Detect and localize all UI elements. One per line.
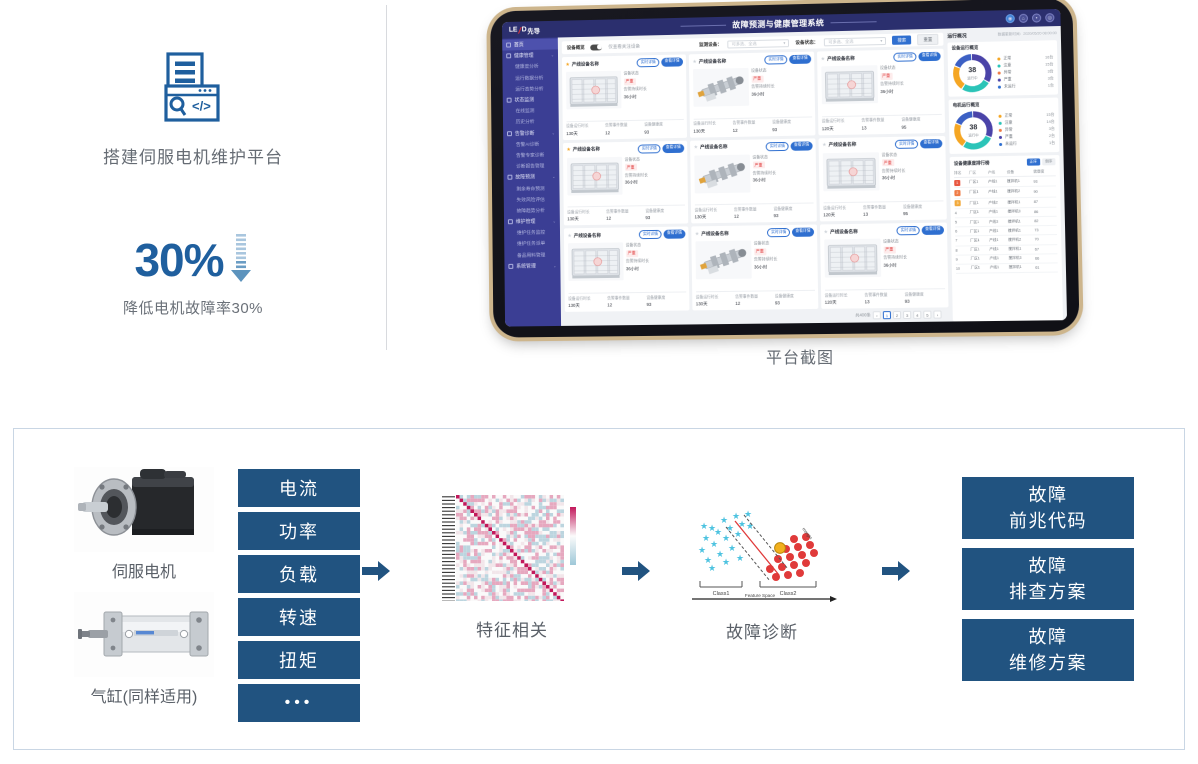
motor-overview-panel: 电机运行概览 38 运行中 正常 15台 (949, 98, 1060, 154)
legend-row: 注意 15台 (997, 62, 1053, 68)
card-uptime-label: 告警持续时长 (626, 258, 649, 264)
card-metric-value: 130天 (566, 130, 605, 137)
factory-cell: 厂区1 (970, 245, 989, 255)
sidebar-item-15[interactable]: 故障趋势分析 (504, 204, 560, 216)
realtime-detail-button[interactable]: 实时详情 (638, 144, 661, 153)
svg-text:Class1: Class1 (713, 591, 730, 597)
realtime-detail-button[interactable]: 实时详情 (893, 52, 916, 62)
motor-overview-title: 电机运行概览 (953, 101, 1055, 109)
outcome-box-2: 故障 维修方案 (962, 619, 1134, 681)
legend-count: 3台 (1048, 76, 1054, 81)
health-ranking-panel: 设备健康度排行榜 正序倒序 排名厂区产线设备健康度 1 厂区1 产线1 搅拌机1… (950, 155, 1063, 321)
svg-text:★: ★ (738, 519, 746, 529)
status-select[interactable]: 可多选、全选 ▾ (824, 36, 886, 45)
tablet-mockup-area: LE / D 先导 故障预测与健康管理系统 ◉ ⌂ • ◎ (410, 0, 1190, 380)
legend-label: 注意 (1005, 120, 1013, 125)
running-overview-title: 运行概况 (947, 32, 967, 39)
pagination-total: 共400条 (855, 312, 871, 318)
favorite-star-icon[interactable]: ★ (692, 59, 697, 65)
line-cell: 产线2 (988, 197, 1007, 208)
donut2-label: 运行中 (968, 132, 978, 137)
pneumatic-cylinder-photo (74, 592, 214, 677)
health-cell: 87 (1034, 197, 1057, 208)
realtime-detail-button[interactable]: 实时详情 (764, 55, 787, 64)
device-card[interactable]: ★ 产线设备名称 实时详情 查看详情 设备状态 严重 告警持续时长 36小时 (564, 227, 690, 312)
home-icon[interactable]: ⌂ (1019, 14, 1028, 23)
sidebar-item-label: 维护任务监控 (517, 229, 545, 236)
legend-dot (997, 64, 1000, 67)
legend-dot (999, 128, 1002, 131)
device-card[interactable]: ★ 产线设备名称 实时详情 查看详情 设备状态 严重 (690, 138, 817, 224)
card-metric: 设备运行时长130天 (568, 296, 607, 309)
sidebar-item-label: 失效风险评估 (516, 196, 544, 203)
card-metric: 告警事件数量13 (863, 205, 903, 218)
favorite-star-icon[interactable]: ★ (822, 142, 827, 148)
device-cell: 搅拌机3 (1008, 254, 1035, 264)
legend-label: 严重 (1005, 134, 1013, 139)
device-overview-legend: 正常 16台 注意 15台 异常 3台 严重 3台 未运行 1台 (997, 55, 1054, 89)
health-cell: 73 (1034, 226, 1057, 236)
legend-dot (999, 135, 1002, 138)
realtime-detail-button[interactable]: 实时详情 (895, 139, 919, 148)
card-metric: 告警事件数量12 (734, 207, 774, 220)
ranking-tab[interactable]: 倒序 (1042, 158, 1056, 165)
legend-row: 严重 3台 (998, 76, 1054, 82)
card-status-value: 严重 (754, 248, 766, 255)
card-uptime-value: 36小时 (751, 91, 774, 97)
favorite-star-icon[interactable]: ★ (567, 233, 571, 239)
factory-cell: 厂区1 (971, 264, 990, 274)
svg-text:★: ★ (700, 521, 708, 531)
device-cell: 搅拌机1 (1009, 263, 1036, 273)
health-cell: 93 (1033, 176, 1056, 187)
watch-only-toggle[interactable] (591, 44, 603, 50)
card-metric-value: 93 (775, 300, 815, 306)
sidebar-item-label: 告警诊断 (515, 129, 535, 136)
sidebar-item-label: 运行态势分析 (515, 85, 543, 92)
outcome-box-1: 故障 排查方案 (962, 548, 1134, 610)
rank-cell: 3 (955, 198, 970, 209)
realtime-detail-button[interactable]: 实时详情 (639, 230, 662, 239)
card-metric-value: 120天 (822, 125, 862, 132)
sidebar-item-18[interactable]: 维护任务派单 (504, 238, 560, 250)
sidebar-item-label: 诊断报告管理 (516, 162, 544, 169)
legend-count: 16台 (1045, 55, 1053, 60)
card-uptime-value: 36小时 (626, 266, 649, 272)
sidebar-item-label: 运行数据分析 (515, 74, 543, 81)
device-card[interactable]: ★ 产线设备名称 实时详情 查看详情 设备状态 严重 告警持续时长 36小时 (563, 140, 688, 225)
header-icon-group[interactable]: ◉ ⌂ • ◎ (1006, 13, 1055, 23)
heart-icon (506, 54, 511, 59)
card-metric-value: 120天 (825, 299, 865, 306)
view-detail-button[interactable]: 查看详情 (789, 55, 810, 64)
device-cell: 搅拌机1 (1008, 244, 1035, 254)
card-metric: 设备运行时长120天 (822, 119, 862, 132)
svg-text:★: ★ (702, 533, 710, 543)
sidebar-item-label: 故障趋势分析 (517, 207, 545, 214)
arrow-right-icon-3 (882, 559, 910, 583)
view-detail-button[interactable]: 查看详情 (920, 139, 942, 148)
card-status-label: 设备状态 (880, 65, 904, 72)
arrow-right-icon-2 (622, 559, 650, 583)
card-uptime-label: 告警持续时长 (754, 257, 777, 263)
view-detail-button[interactable]: 查看详情 (663, 143, 684, 152)
line-cell: 产线1 (988, 177, 1007, 188)
card-title: 产线设备名称 (573, 147, 600, 153)
donut2-value: 38 (969, 124, 977, 131)
sidebar-item-label: 系统管理 (516, 262, 536, 269)
device-overview-panel: 设备运行概览 38 运行中 正常 16台 (947, 40, 1058, 97)
card-status-value: 严重 (626, 250, 638, 257)
parameter-list: 电流功率负载转速扭矩••• (238, 469, 360, 727)
pagination-page-5[interactable]: 5 (923, 311, 931, 319)
legend-count: 1台 (1049, 140, 1055, 145)
device-overview-donut: 38 运行中 (952, 53, 993, 94)
card-status-value: 严重 (882, 159, 894, 166)
reset-button[interactable]: 重置 (917, 34, 938, 46)
outcome-line1: 故障 (1029, 553, 1068, 579)
realtime-detail-button[interactable]: 实时详情 (766, 142, 789, 151)
card-status-value: 严重 (880, 72, 892, 79)
card-metric: 告警事件数量13 (864, 292, 904, 305)
svg-text:★: ★ (698, 545, 706, 555)
svg-text:★: ★ (746, 521, 754, 531)
device-select-label: 监测设备： (699, 41, 722, 47)
sidebar-item-label: 状态监测 (514, 96, 534, 103)
chevron-down-icon: ⌄ (553, 263, 556, 268)
device-thumbnail (824, 239, 881, 278)
device-card[interactable]: ★ 产线设备名称 实时详情 查看详情 设备状态 严重 告警持续时长 36小时 (820, 223, 949, 309)
platform-highlight-panel: </> 搭建伺服电机维护平台 30% (0, 0, 386, 380)
code-window-icon: </> (156, 52, 230, 129)
alert-icon (507, 131, 512, 136)
down-arrow-icon (230, 234, 252, 289)
card-metric-value: 130天 (695, 214, 735, 221)
cards-column: 设备概览 仅查看关注设备 监测设备： 可多选、全选 ▾ 设备状态： (558, 29, 953, 326)
device-cell: 搅拌机2 (1008, 235, 1035, 245)
card-metric-value: 93 (644, 129, 683, 135)
card-uptime-label: 告警持续时长 (882, 167, 906, 173)
device-select[interactable]: 可多选、全选 ▾ (728, 39, 790, 48)
stat-caption: 降低电机故障率30% (123, 297, 263, 318)
legend-count: 2台 (1049, 133, 1055, 138)
card-title: 产线设备名称 (829, 142, 857, 149)
favorite-star-icon[interactable]: ★ (821, 56, 826, 62)
legend-row: 未运行 1台 (999, 140, 1055, 146)
card-metric: 设备健康度95 (901, 117, 941, 130)
tech-solution-panel: 伺服电机 (13, 428, 1185, 750)
sidebar-item-14[interactable]: 失效风险评估 (504, 193, 560, 205)
equipment-caption: 伺服电机 (74, 558, 214, 582)
bell-icon[interactable]: • (1032, 13, 1041, 22)
rank-cell: 7 (955, 236, 970, 245)
sidebar-item-19[interactable]: 备品用料管理 (504, 249, 560, 261)
legend-label: 正常 (1005, 113, 1013, 118)
vertical-divider (386, 5, 387, 350)
card-title: 产线设备名称 (700, 144, 727, 150)
sidebar-nav[interactable]: 首页健康管理⌄健康度分析运行数据分析运行态势分析状态监测在线监测历史分析告警诊断… (502, 38, 561, 327)
watch-only-label: 仅查看关注设备 (608, 43, 640, 50)
card-metric-value: 12 (733, 127, 773, 133)
svg-text:Feature Space: Feature Space (745, 593, 776, 598)
card-uptime-value: 36小时 (882, 175, 906, 181)
rank-badge: 3 (955, 200, 961, 206)
main-content: 设备概览 仅查看关注设备 监测设备： 可多选、全选 ▾ 设备状态： (558, 26, 1067, 326)
device-cards-grid: ★ 产线设备名称 实时详情 查看详情 设备状态 严重 告警持续时长 36小时 (562, 49, 949, 312)
line-cell: 产线1 (989, 208, 1008, 218)
card-status-value: 严重 (752, 161, 764, 168)
pagination-page-1[interactable]: 1 (883, 311, 891, 319)
legend-count: 15台 (1045, 62, 1053, 67)
chevron-down-icon: ⌄ (552, 174, 555, 179)
health-cell: 90 (1034, 186, 1057, 197)
legend-row: 未运行 1台 (998, 83, 1054, 89)
device-card[interactable]: ★ 产线设备名称 实时详情 查看详情 设备状态 严重 告警持续时长 36小时 (818, 136, 946, 222)
home-icon (506, 43, 511, 48)
card-uptime-value: 36小时 (753, 177, 776, 183)
card-uptime-label: 告警持续时长 (883, 255, 907, 261)
servo-motor-photo (74, 467, 214, 552)
svg-text:★: ★ (744, 509, 752, 519)
legend-count: 1台 (1048, 83, 1054, 88)
rank-cell: 8 (955, 245, 970, 254)
view-detail-button[interactable]: 查看详情 (662, 57, 683, 66)
legend-count: 3台 (1049, 126, 1055, 131)
device-thumbnail (822, 152, 879, 191)
legend-row: 正常 15台 (998, 112, 1054, 118)
outcome-line2: 维修方案 (1009, 650, 1087, 676)
pagination-page-4[interactable]: 4 (913, 311, 921, 319)
card-status-label: 设备状态 (881, 151, 905, 157)
sidebar-item-label: 告警AI诊断 (516, 140, 539, 147)
card-title: 产线设备名称 (699, 58, 726, 65)
settings-icon (508, 264, 513, 269)
sidebar-item-label: 健康管理 (514, 52, 534, 59)
device-thumbnail (694, 154, 750, 193)
factory-cell: 厂区1 (970, 208, 989, 218)
card-metric: 设备健康度93 (905, 292, 945, 305)
card-metric-value: 130天 (567, 216, 606, 223)
legend-label: 未运行 (1005, 141, 1017, 146)
card-title: 产线设备名称 (572, 61, 599, 68)
rank-cell: 10 (956, 264, 971, 273)
svg-text:★: ★ (728, 543, 736, 553)
outcome-line1: 故障 (1029, 624, 1068, 650)
legend-row: 注意 14台 (999, 119, 1055, 125)
device-thumbnail (693, 68, 749, 107)
card-uptime-value: 36小时 (883, 262, 907, 268)
svg-text:★: ★ (722, 533, 730, 543)
device-overview-title: 设备运行概览 (952, 43, 1053, 51)
search-button[interactable]: 搜索 (892, 35, 911, 45)
sidebar-item-label: 剩余寿命预测 (516, 185, 544, 192)
device-thumbnail (695, 241, 751, 280)
view-detail-button[interactable]: 查看详情 (919, 52, 941, 61)
card-uptime-label: 告警持续时长 (624, 86, 647, 92)
card-metric: 设备健康度95 (903, 204, 943, 217)
factory-cell: 厂区1 (969, 177, 988, 188)
tablet-caption: 平台截图 (410, 344, 1190, 368)
card-metric-value: 130天 (568, 302, 607, 308)
card-metric-value: 12 (734, 213, 774, 219)
card-metric-value: 12 (606, 215, 645, 221)
parameter-box-4: 扭矩 (238, 641, 360, 679)
card-metric: 设备运行时长130天 (693, 121, 733, 134)
factory-cell: 厂区1 (970, 217, 989, 227)
sidebar-item-label: 首页 (514, 41, 524, 48)
rank-cell: 2 (954, 188, 969, 199)
card-uptime-label: 告警持续时长 (753, 170, 776, 176)
stat-block: 30% (134, 230, 251, 289)
correlation-heatmap-chart (432, 489, 592, 601)
line-cell: 产线1 (989, 254, 1008, 264)
right-panel-heading: 运行概况 数据更新时间：2020/05/20 08:00:00 (947, 30, 1057, 39)
parameter-box-1: 功率 (238, 512, 360, 550)
factory-cell: 厂区1 (970, 227, 989, 237)
table-row[interactable]: 10 厂区1 产线1 搅拌机1 61 (956, 263, 1058, 274)
legend-row: 严重 2台 (999, 133, 1055, 139)
favorite-star-icon[interactable]: ★ (694, 145, 699, 151)
pagination-page-3[interactable]: 3 (903, 311, 911, 319)
view-detail-button[interactable]: 查看详情 (922, 226, 944, 235)
card-metric-value: 95 (901, 124, 941, 130)
rank-cell: 6 (955, 227, 970, 236)
legend-count: 15台 (1046, 112, 1054, 117)
sidebar-item-13[interactable]: 剩余寿命预测 (504, 182, 560, 194)
card-uptime-value: 36小时 (880, 88, 904, 94)
legend-row: 正常 16台 (997, 55, 1053, 61)
right-summary-column: 运行概况 数据更新时间：2020/05/20 08:00:00 设备运行概览 3… (947, 26, 1067, 321)
legend-dot (999, 142, 1002, 145)
pagination-prev[interactable]: ‹ (873, 311, 881, 319)
device-thumbnail (568, 243, 624, 282)
legend-dot (998, 114, 1001, 117)
card-status-label: 设备状态 (625, 156, 648, 162)
legend-row: 异常 3台 (999, 126, 1055, 132)
legend-dot (998, 71, 1001, 74)
chevron-down-icon: ▾ (880, 38, 882, 43)
outcome-line2: 前兆代码 (1009, 508, 1087, 534)
card-metric: 设备运行时长130天 (566, 124, 605, 137)
realtime-detail-button[interactable]: 实时详情 (897, 226, 921, 235)
card-metric: 告警事件数量12 (606, 209, 645, 222)
card-metric-value: 12 (607, 302, 646, 307)
card-uptime-value: 36小时 (624, 93, 647, 99)
device-cell: 搅拌机1 (1008, 217, 1035, 227)
user-icon[interactable]: ◉ (1006, 14, 1015, 23)
gear-icon[interactable]: ◎ (1045, 13, 1054, 22)
realtime-detail-button[interactable]: 实时详情 (637, 58, 660, 67)
legend-dot (998, 85, 1001, 88)
realtime-detail-button[interactable]: 实时详情 (767, 228, 790, 237)
sidebar-item-label: 在线监测 (516, 107, 535, 114)
app-title-text: 故障预测与健康管理系统 (732, 18, 824, 29)
card-status-label: 设备状态 (751, 67, 774, 73)
device-card[interactable]: ★ 产线设备名称 实时详情 查看详情 设备状态 严重 告警持续时长 36小时 (562, 54, 687, 139)
view-detail-button[interactable]: 查看详情 (792, 228, 813, 237)
device-card[interactable]: ★ 产线设备名称 实时详情 查看详情 设备状态 严重 (691, 225, 818, 311)
health-cell: 82 (1034, 216, 1057, 226)
ranking-column-header: 健康度 (1033, 167, 1056, 176)
device-card[interactable]: ★ 产线设备名称 实时详情 查看详情 设备状态 严重 告警持续时长 36小时 (817, 49, 945, 135)
pagination-next[interactable]: › (933, 310, 941, 318)
parameter-box-3: 转速 (238, 598, 360, 636)
favorite-star-icon[interactable]: ★ (565, 61, 569, 67)
card-metric-value: 120天 (823, 212, 863, 219)
card-uptime-label: 告警持续时长 (751, 83, 774, 89)
motor-overview-legend: 正常 15台 注意 14台 异常 3台 严重 2台 未运行 1台 (998, 112, 1055, 146)
card-title: 产线设备名称 (830, 229, 858, 235)
card-metric: 告警事件数量12 (605, 123, 644, 136)
sidebar-item-17[interactable]: 维护任务监控 (504, 227, 560, 239)
motor-overview-donut: 38 运行中 (953, 110, 994, 151)
card-metric-value: 12 (605, 129, 644, 135)
slide-root: </> 搭建伺服电机维护平台 30% (0, 0, 1198, 764)
outcome-box-0: 故障 前兆代码 (962, 477, 1134, 539)
svg-text:★: ★ (710, 539, 718, 549)
card-metric-value: 93 (774, 213, 814, 219)
card-metric: 告警事件数量13 (861, 118, 901, 131)
factory-cell: 厂区1 (969, 198, 988, 209)
line-cell: 产线1 (989, 236, 1008, 246)
card-status-label: 设备状态 (752, 154, 775, 160)
card-metric: 告警事件数量12 (607, 295, 646, 308)
sidebar-item-label: 历史分析 (516, 118, 535, 125)
feature-correlation-block: 特征相关 (432, 489, 592, 641)
rank-badge: 1 (954, 180, 960, 186)
card-metric: 设备运行时长120天 (823, 206, 863, 219)
pagination-page-2[interactable]: 2 (893, 311, 901, 319)
favorite-star-icon[interactable]: ★ (566, 147, 570, 153)
filter-overview-label: 设备概览 (567, 44, 585, 50)
wrench-icon (508, 219, 513, 224)
card-metric-value: 12 (735, 300, 775, 306)
card-title: 产线设备名称 (701, 231, 729, 237)
sidebar-item-label: 维护任务派单 (517, 240, 545, 247)
chevron-down-icon: ⌄ (551, 53, 554, 58)
legend-label: 注意 (1004, 63, 1012, 68)
sidebar-item-20[interactable]: 系统管理⌄ (504, 260, 560, 272)
card-uptime-value: 36小时 (754, 264, 777, 270)
health-cell: 70 (1035, 235, 1058, 245)
ranking-sort-tabs[interactable]: 正序倒序 (1026, 158, 1055, 166)
card-title: 产线设备名称 (827, 55, 855, 62)
ranking-tab[interactable]: 正序 (1026, 158, 1040, 165)
card-metric: 设备运行时长130天 (694, 208, 734, 221)
chevron-down-icon: ⌄ (553, 219, 556, 224)
view-detail-button[interactable]: 查看详情 (664, 230, 685, 239)
device-cell: 搅拌机1 (1007, 197, 1034, 208)
sidebar-item-16[interactable]: 维护管理⌄ (504, 216, 560, 228)
equipment-caption: 气缸(同样适用) (74, 683, 214, 707)
view-detail-button[interactable]: 查看详情 (791, 141, 812, 150)
rank-cell: 9 (956, 255, 971, 264)
rank-badge: 2 (954, 190, 960, 196)
favorite-star-icon[interactable]: ★ (824, 229, 829, 235)
outcome-boxes: 故障 前兆代码 故障 排查方案 故障 维修方案 (962, 477, 1134, 690)
app-body: 首页健康管理⌄健康度分析运行数据分析运行态势分析状态监测在线监测历史分析告警诊断… (502, 26, 1067, 327)
favorite-star-icon[interactable]: ★ (695, 231, 700, 237)
card-metric-value: 93 (905, 298, 945, 304)
device-card[interactable]: ★ 产线设备名称 实时详情 查看详情 设备状态 严重 (689, 52, 816, 138)
legend-label: 正常 (1003, 56, 1011, 61)
app-screen: LE / D 先导 故障预测与健康管理系统 ◉ ⌂ • ◎ (502, 9, 1067, 327)
card-metric-value: 130天 (696, 301, 736, 307)
equipment-item: 气缸(同样适用) (74, 592, 214, 707)
monitor-icon (507, 98, 512, 103)
legend-count: 3台 (1047, 69, 1053, 74)
equipment-column: 伺服电机 (74, 467, 214, 707)
